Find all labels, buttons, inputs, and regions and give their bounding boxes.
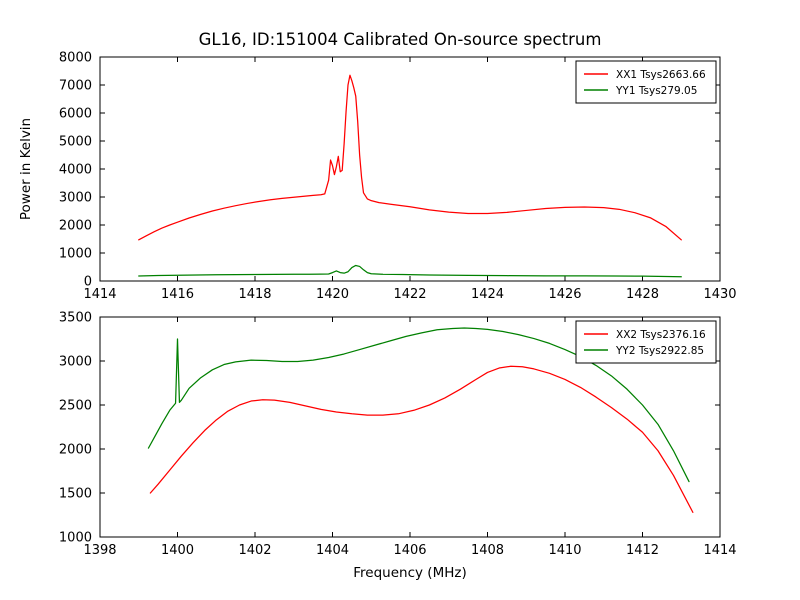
x-tick-label: 1416 [161, 287, 194, 302]
y-axis-label: Power in Kelvin [18, 118, 34, 220]
y-tick-label: 2000 [59, 443, 92, 458]
x-tick-label: 1408 [471, 543, 504, 558]
legend-label-1: YY1 Tsys279.05 [615, 85, 697, 97]
x-tick-label: 1418 [238, 287, 271, 302]
y-tick-label: 3500 [59, 311, 92, 326]
legend-label-0: XX1 Tsys2663.66 [616, 69, 706, 81]
figure-canvas: GL16, ID:151004 Calibrated On-source spe… [0, 0, 800, 600]
legend: XX1 Tsys2663.66YY1 Tsys279.05 [576, 61, 716, 103]
x-tick-label: 1424 [471, 287, 504, 302]
y-tick-label: 1000 [59, 531, 92, 546]
legend: XX2 Tsys2376.16YY2 Tsys2922.85 [576, 321, 716, 363]
x-tick-label: 1410 [548, 543, 581, 558]
x-tick-label: 1406 [393, 543, 426, 558]
x-tick-label: 1426 [548, 287, 581, 302]
y-tick-label: 3000 [59, 191, 92, 206]
y-tick-label: 6000 [59, 107, 92, 122]
x-tick-label: 1430 [703, 287, 736, 302]
x-axis-label: Frequency (MHz) [353, 565, 466, 581]
y-tick-label: 2500 [59, 399, 92, 414]
y-tick-label: 0 [84, 275, 92, 290]
x-tick-label: 1400 [161, 543, 194, 558]
x-tick-label: 1402 [238, 543, 271, 558]
x-tick-label: 1414 [703, 543, 736, 558]
x-tick-label: 1420 [316, 287, 349, 302]
legend-label-0: XX2 Tsys2376.16 [616, 329, 706, 341]
y-tick-label: 2000 [59, 219, 92, 234]
y-tick-label: 4000 [59, 163, 92, 178]
spectrum-figure: GL16, ID:151004 Calibrated On-source spe… [0, 0, 800, 600]
legend-label-1: YY2 Tsys2922.85 [615, 345, 704, 357]
y-tick-label: 1500 [59, 487, 92, 502]
y-tick-label: 5000 [59, 135, 92, 150]
y-tick-label: 1000 [59, 247, 92, 262]
y-tick-label: 8000 [59, 51, 92, 66]
x-tick-label: 1428 [626, 287, 659, 302]
y-tick-label: 7000 [59, 79, 92, 94]
x-tick-label: 1412 [626, 543, 659, 558]
x-tick-label: 1422 [393, 287, 426, 302]
y-tick-label: 3000 [59, 355, 92, 370]
x-tick-label: 1404 [316, 543, 349, 558]
page-title: GL16, ID:151004 Calibrated On-source spe… [199, 30, 602, 49]
